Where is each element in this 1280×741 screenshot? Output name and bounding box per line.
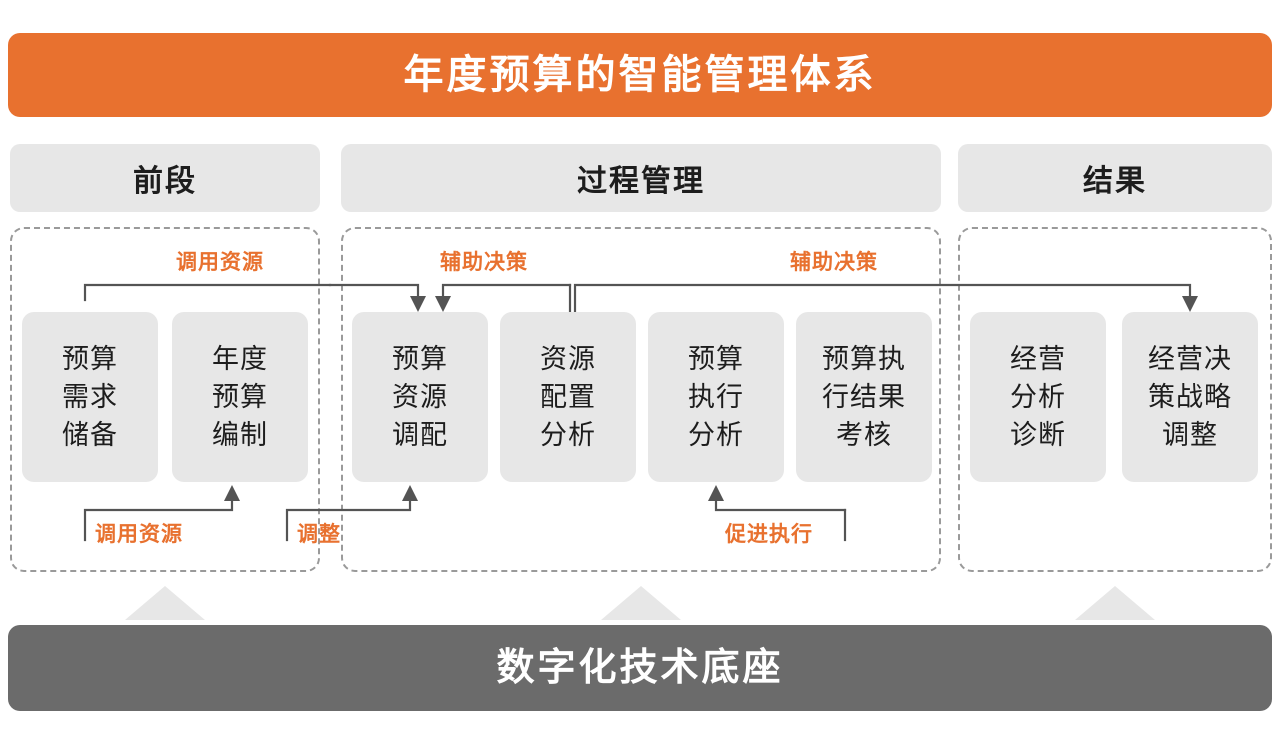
connector-label-bottom-group1-right: 调整 <box>297 524 341 545</box>
section-header-process: 过程管理 <box>341 144 941 212</box>
node-line: 经营决 <box>1148 340 1232 378</box>
node-budget-resource-allocation[interactable]: 预算 资源 调配 <box>352 312 488 482</box>
node-line: 调配 <box>392 416 448 454</box>
node-line: 预算 <box>392 340 448 378</box>
node-line: 储备 <box>62 416 118 454</box>
node-line: 资源 <box>392 378 448 416</box>
node-line: 预算 <box>62 340 118 378</box>
title-banner: 年度预算的智能管理体系 <box>8 33 1272 117</box>
section-header-front: 前段 <box>10 144 320 212</box>
node-annual-budget-preparation[interactable]: 年度 预算 编制 <box>172 312 308 482</box>
section-header-label: 过程管理 <box>577 156 705 200</box>
node-line: 分析 <box>1010 378 1066 416</box>
node-budget-demand-reserve[interactable]: 预算 需求 储备 <box>22 312 158 482</box>
section-header-result: 结果 <box>958 144 1272 212</box>
base-banner: 数字化技术底座 <box>8 625 1272 711</box>
node-line: 分析 <box>688 416 744 454</box>
base-banner-text: 数字化技术底座 <box>496 649 783 687</box>
node-line: 预算执 <box>822 340 906 378</box>
node-line: 预算 <box>688 340 744 378</box>
connector-label-bottom-group2: 促进执行 <box>725 524 813 545</box>
node-line: 资源 <box>540 340 596 378</box>
title-text: 年度预算的智能管理体系 <box>404 55 877 95</box>
node-business-decision-strategy-adjustment[interactable]: 经营决 策战略 调整 <box>1122 312 1258 482</box>
node-line: 分析 <box>540 416 596 454</box>
section-header-label: 前段 <box>133 156 197 200</box>
node-line: 调整 <box>1162 416 1218 454</box>
diagram-canvas: 年度预算的智能管理体系 前段 过程管理 结果 <box>0 0 1280 741</box>
node-line: 策战略 <box>1148 378 1232 416</box>
node-line: 预算 <box>212 378 268 416</box>
node-line: 行结果 <box>822 378 906 416</box>
connector-label-top-group2-right: 辅助决策 <box>790 252 878 273</box>
node-line: 经营 <box>1010 340 1066 378</box>
connector-label-top-group1: 调用资源 <box>176 252 264 273</box>
node-business-analysis-diagnosis[interactable]: 经营 分析 诊断 <box>970 312 1106 482</box>
node-resource-config-analysis[interactable]: 资源 配置 分析 <box>500 312 636 482</box>
node-budget-execution-result-assessment[interactable]: 预算执 行结果 考核 <box>796 312 932 482</box>
connector-label-bottom-group1-left: 调用资源 <box>95 524 183 545</box>
node-line: 需求 <box>62 378 118 416</box>
base-support-triangles <box>125 586 1155 620</box>
node-line: 年度 <box>212 340 268 378</box>
node-line: 诊断 <box>1010 416 1066 454</box>
connector-label-top-group2-left: 辅助决策 <box>440 252 528 273</box>
node-line: 考核 <box>836 416 892 454</box>
node-budget-execution-analysis[interactable]: 预算 执行 分析 <box>648 312 784 482</box>
node-line: 配置 <box>540 378 596 416</box>
node-line: 执行 <box>688 378 744 416</box>
section-header-label: 结果 <box>1083 156 1147 200</box>
node-line: 编制 <box>212 416 268 454</box>
